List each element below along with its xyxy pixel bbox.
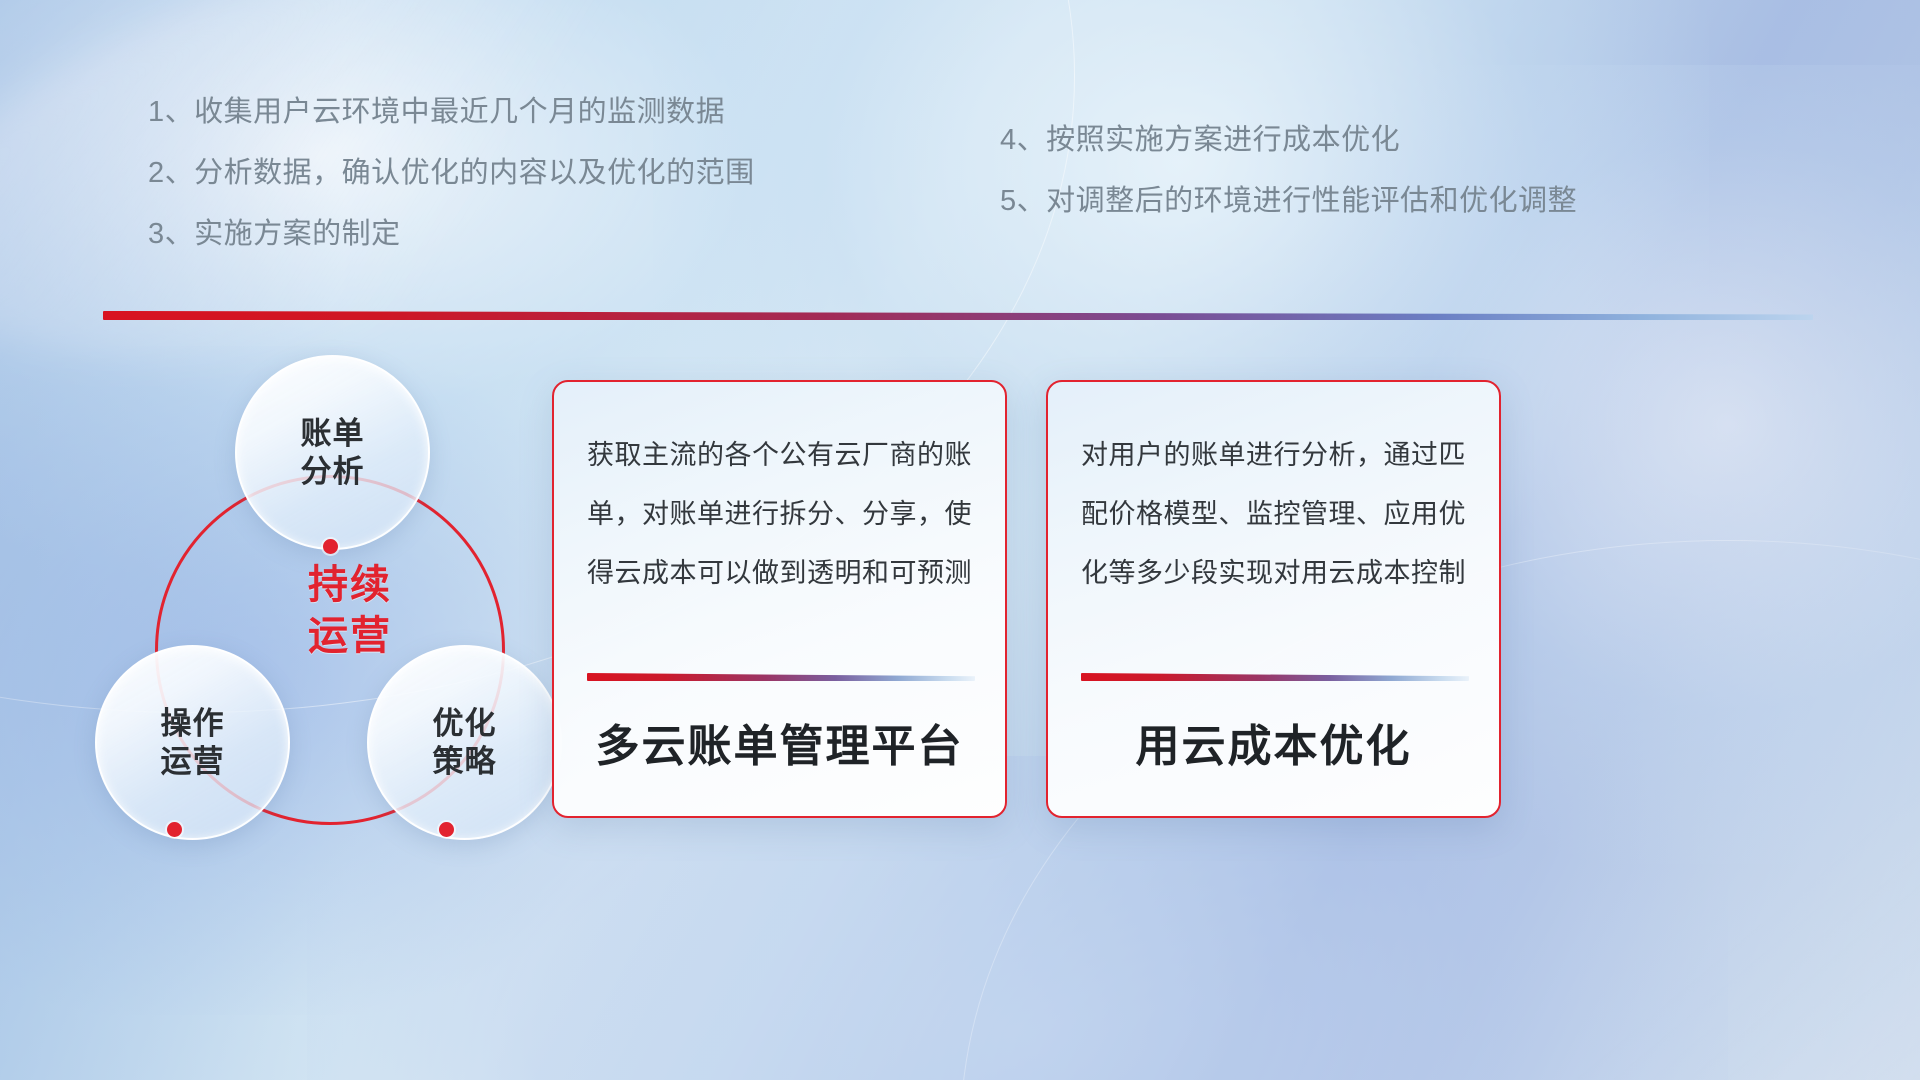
info-card-multicloud-billing[interactable]: 获取主流的各个公有云厂商的账单，对账单进行拆分、分享，使得云成本可以做到透明和可… xyxy=(552,380,1007,818)
step-item-1: 1、收集用户云环境中最近几个月的监测数据 xyxy=(148,98,755,127)
info-card-body: 对用户的账单进行分析，通过匹配价格模型、监控管理、应用优化等多少段实现对用云成本… xyxy=(1081,426,1466,603)
step-item-4: 4、按照实施方案进行成本优化 xyxy=(1000,126,1577,155)
venn-circle-billing-analysis[interactable]: 账单 分析 xyxy=(235,355,430,550)
info-card-title: 多云账单管理平台 xyxy=(554,710,1005,774)
info-card-body: 获取主流的各个公有云厂商的账单，对账单进行拆分、分享，使得云成本可以做到透明和可… xyxy=(587,426,972,603)
venn-center-label-line2: 运营 xyxy=(255,611,445,662)
venn-center-label: 持续 运营 xyxy=(255,560,445,662)
venn-label-line2: 策略 xyxy=(433,743,497,781)
venn-circle-optimization-strategy-label: 优化 策略 xyxy=(433,705,497,781)
venn-label-line2: 分析 xyxy=(301,453,365,491)
venn-label-line1: 优化 xyxy=(433,705,497,743)
venn-node-dot-top xyxy=(323,539,338,554)
venn-node-dot-left xyxy=(167,822,182,837)
venn-circle-billing-analysis-label: 账单 分析 xyxy=(301,415,365,491)
section-divider-ink xyxy=(103,311,1813,320)
info-card-divider xyxy=(587,673,975,681)
venn-label-line2: 运营 xyxy=(161,743,225,781)
venn-label-line1: 账单 xyxy=(301,415,365,453)
steps-list-left: 1、收集用户云环境中最近几个月的监测数据 2、分析数据，确认优化的内容以及优化的… xyxy=(148,98,755,281)
info-card-divider-ink xyxy=(587,673,975,681)
info-card-title: 用云成本优化 xyxy=(1048,710,1499,774)
step-item-5: 5、对调整后的环境进行性能评估和优化调整 xyxy=(1000,187,1577,216)
step-item-2: 2、分析数据，确认优化的内容以及优化的范围 xyxy=(148,159,755,188)
venn-center-label-line1: 持续 xyxy=(255,560,445,611)
venn-node-dot-right xyxy=(439,822,454,837)
venn-circle-operations[interactable]: 操作 运营 xyxy=(95,645,290,840)
venn-label-line1: 操作 xyxy=(161,705,225,743)
venn-diagram: 持续 运营 账单 分析 操作 运营 优化 策略 xyxy=(95,355,605,945)
steps-list-right: 4、按照实施方案进行成本优化 5、对调整后的环境进行性能评估和优化调整 xyxy=(1000,126,1577,248)
venn-circle-optimization-strategy[interactable]: 优化 策略 xyxy=(367,645,562,840)
section-divider-rule xyxy=(103,311,1813,320)
info-card-divider xyxy=(1081,673,1469,681)
info-card-cloud-cost-optimization[interactable]: 对用户的账单进行分析，通过匹配价格模型、监控管理、应用优化等多少段实现对用云成本… xyxy=(1046,380,1501,818)
info-card-divider-ink xyxy=(1081,673,1469,681)
step-item-3: 3、实施方案的制定 xyxy=(148,220,755,249)
venn-circle-operations-label: 操作 运营 xyxy=(161,705,225,781)
